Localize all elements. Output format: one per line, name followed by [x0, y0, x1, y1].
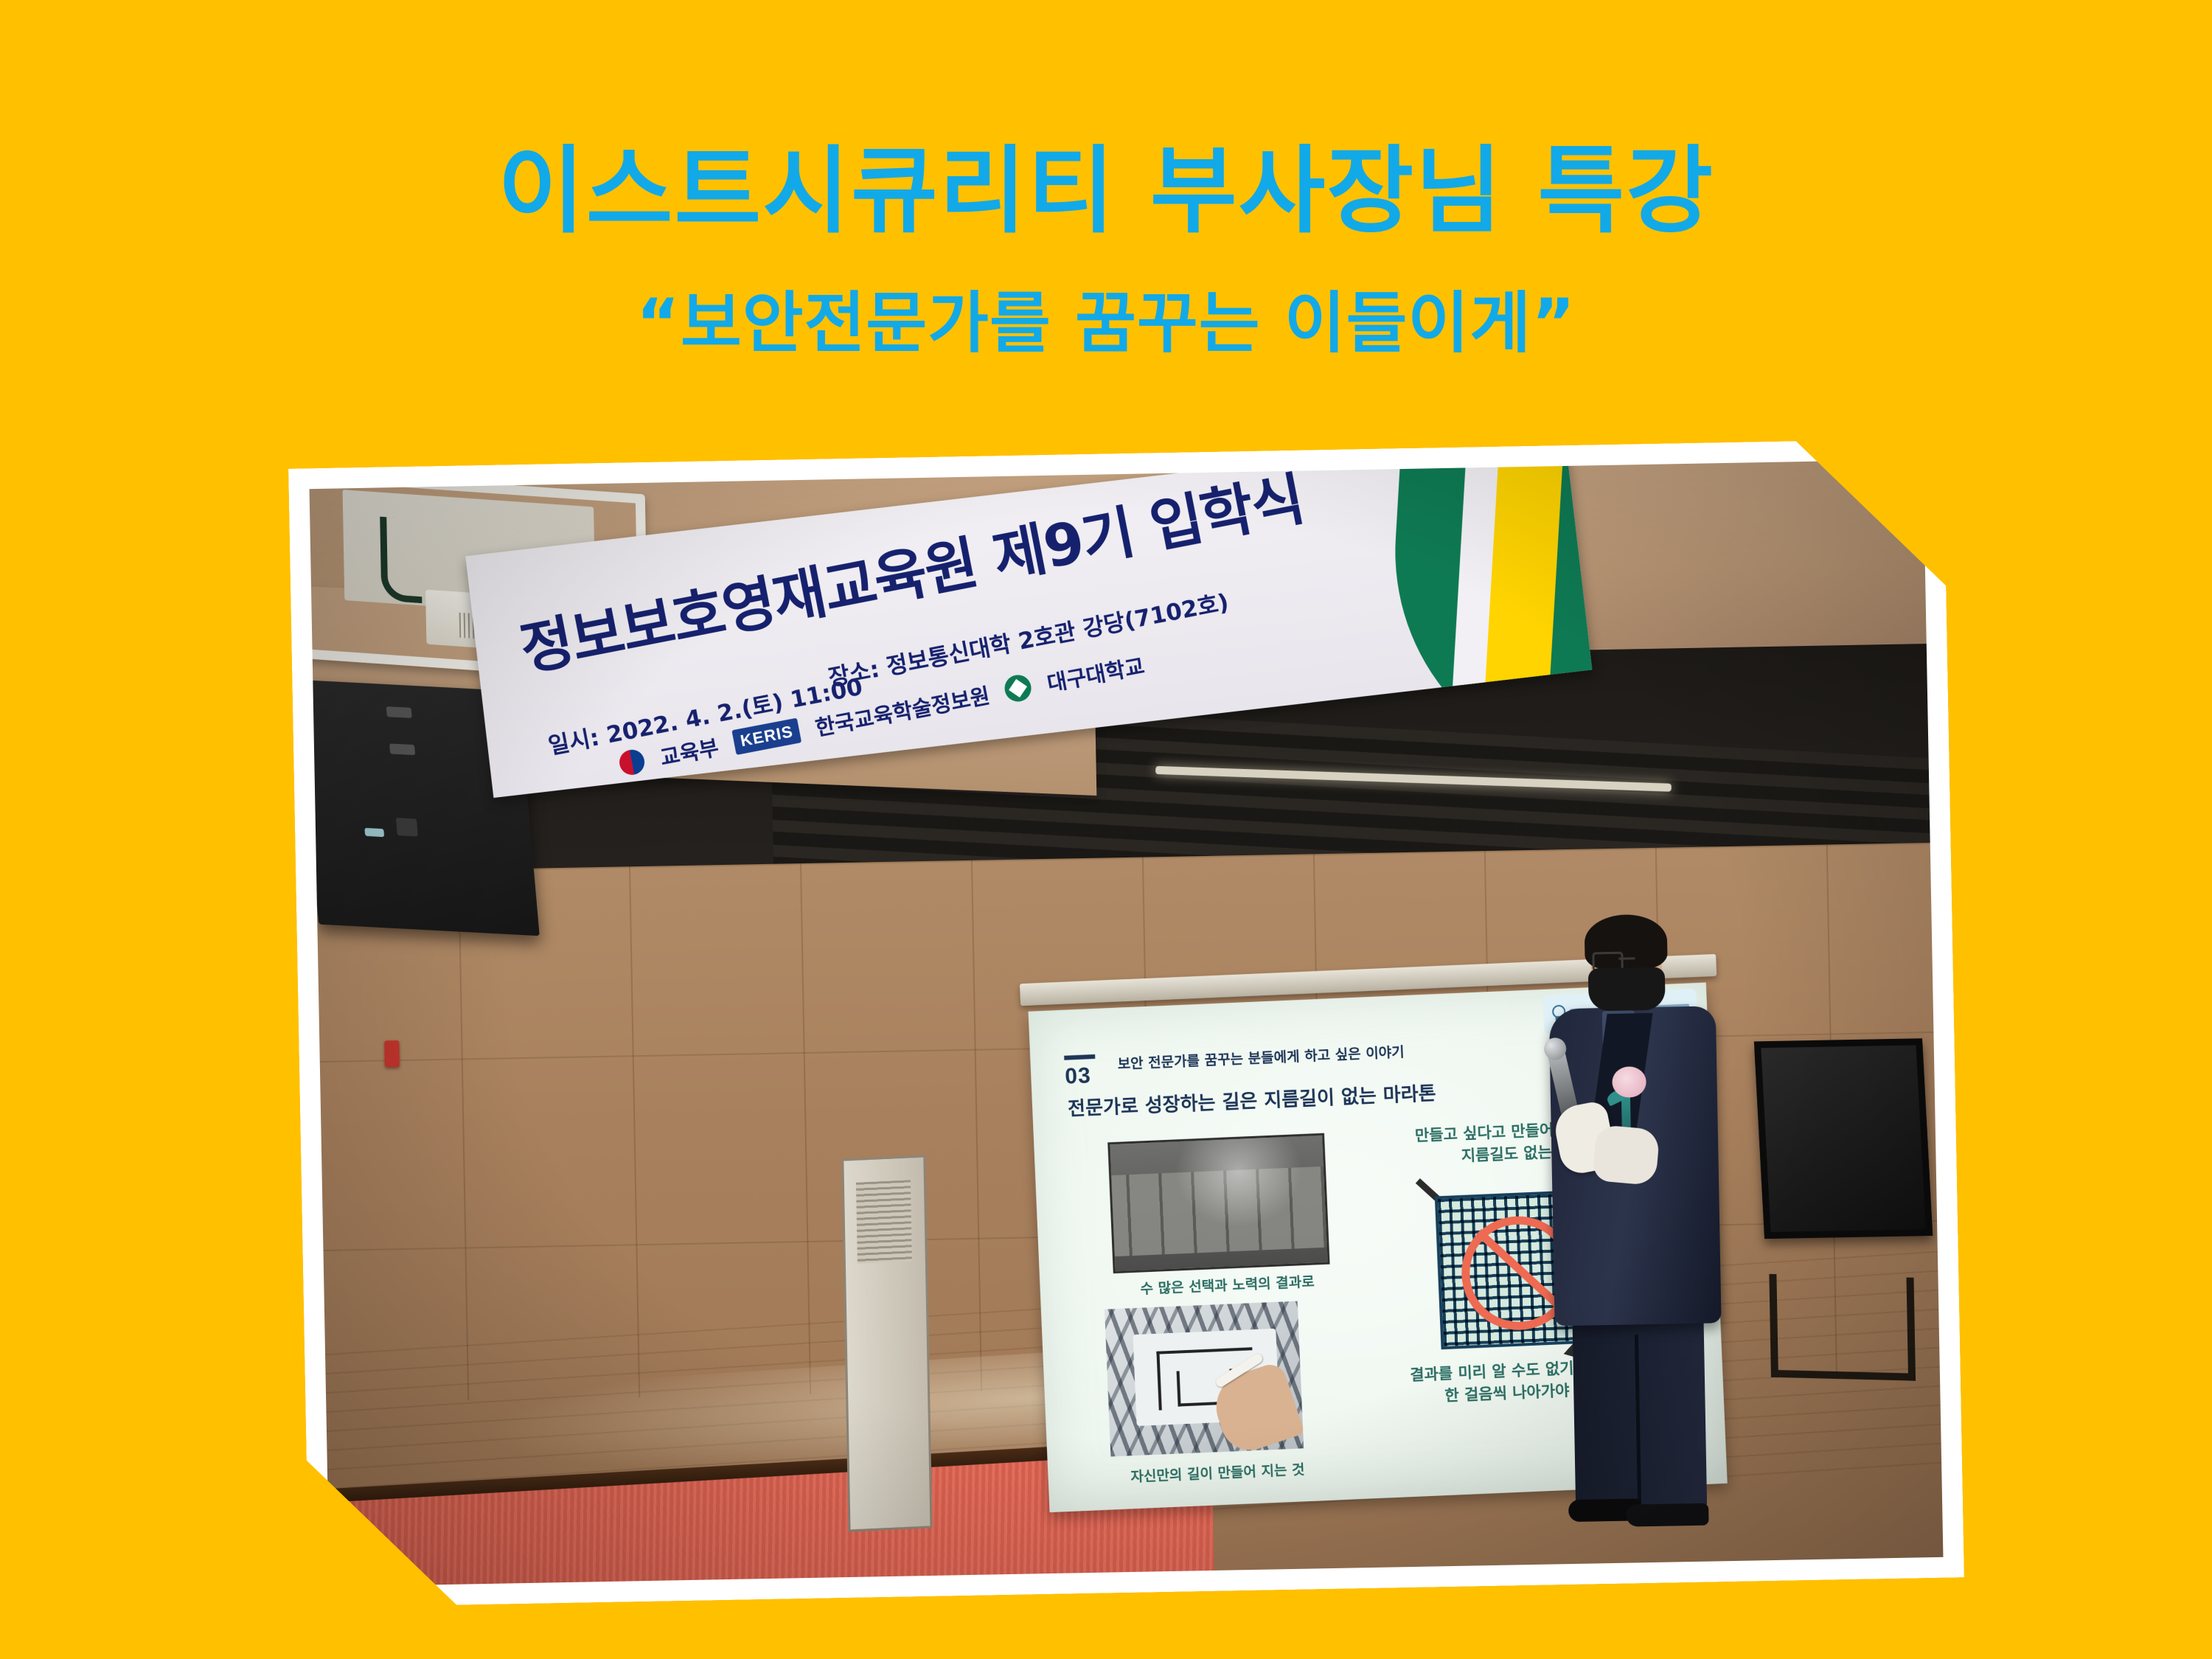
monitor-stand	[1769, 1274, 1916, 1381]
auditorium-scene: 정보보호영재교육원 제9기 입학식 장소: 정보통신대학 2호관 강당(7102…	[310, 459, 1944, 1587]
slide-image-buildings	[1107, 1133, 1329, 1273]
daegu-univ-icon	[1003, 672, 1034, 703]
speaker-badge	[364, 828, 384, 837]
page-subtitle: “보안전문가를 꿈꾸는 이들이게”	[0, 287, 2212, 360]
presenter	[1527, 920, 1752, 1536]
presenter-glove	[1592, 1124, 1660, 1186]
slide-image-maze-drawing	[1105, 1301, 1304, 1457]
door-louver	[856, 1180, 912, 1263]
title-block: 이스트시큐리티 부사장님 특강 “보안전문가를 꿈꾸는 이들이게”	[0, 140, 2212, 360]
face-mask-icon	[1588, 967, 1666, 1012]
taegeuk-icon	[617, 748, 647, 777]
projector-rod	[342, 459, 347, 484]
glasses-icon	[1592, 951, 1661, 967]
logo-label-daegu: 대구대학교	[1044, 649, 1147, 698]
speaker-handle	[386, 706, 412, 718]
monitor-screen	[1761, 1045, 1925, 1231]
presenter-shoe	[1626, 1503, 1709, 1527]
speaker-handle	[396, 818, 418, 837]
slide-section-number: 03	[1065, 1063, 1092, 1089]
page-title: 이스트시큐리티 부사장님 특강	[0, 140, 2212, 244]
fire-alarm	[384, 1040, 400, 1067]
wall-monitor	[1754, 1038, 1933, 1239]
photo-image: 정보보호영재교육원 제9기 입학식 장소: 정보통신대학 2호관 강당(7102…	[310, 459, 1944, 1587]
photo-frame: 정보보호영재교육원 제9기 입학식 장소: 정보통신대학 2호관 강당(7102…	[288, 439, 1964, 1608]
stage-door	[841, 1155, 932, 1531]
speaker-handle	[389, 743, 415, 755]
